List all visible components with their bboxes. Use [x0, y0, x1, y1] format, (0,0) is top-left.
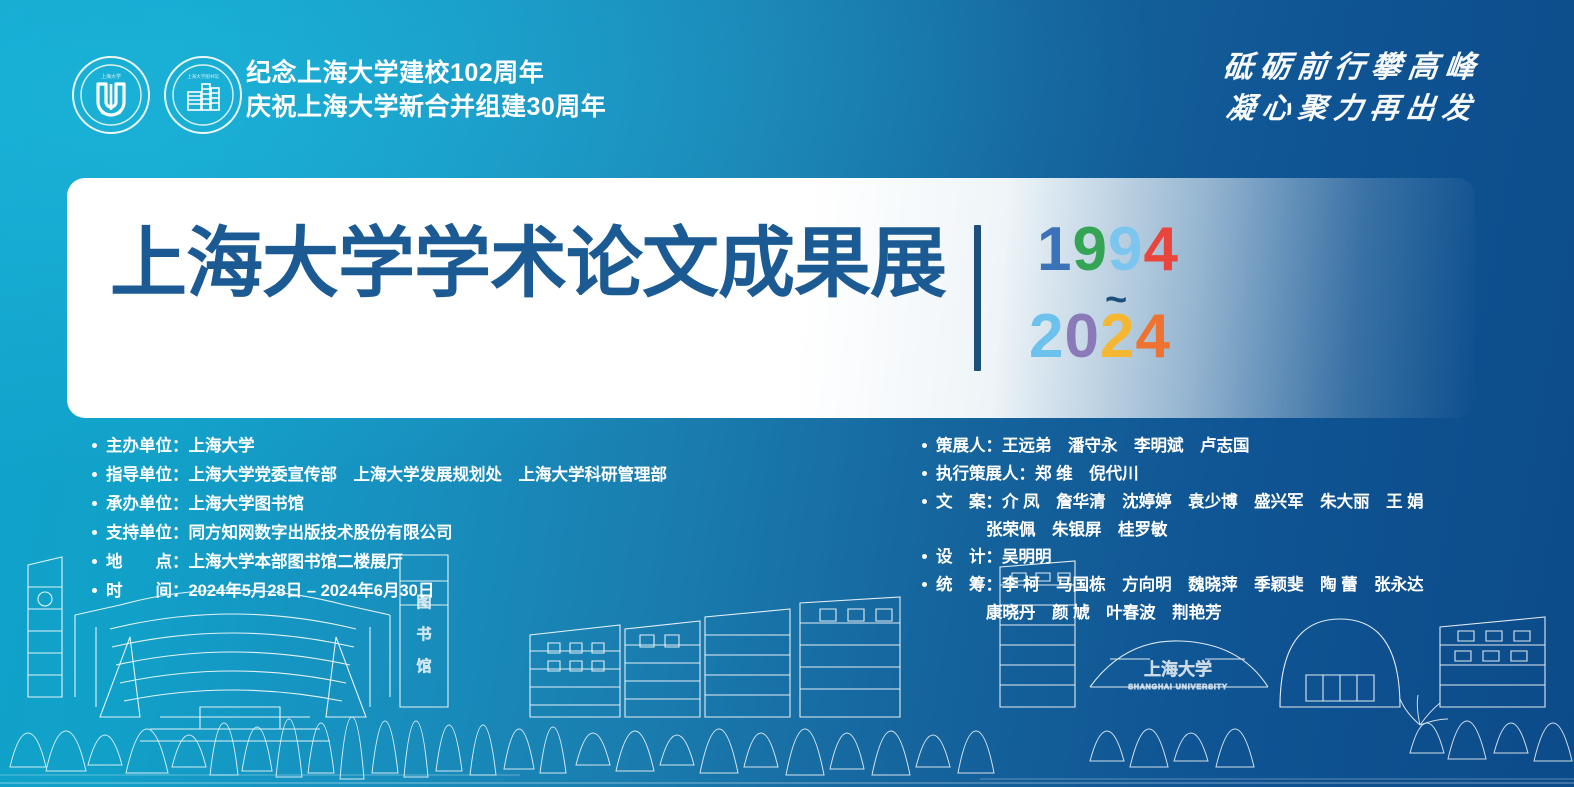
year-to-digit-1: 0: [1064, 308, 1099, 366]
svg-text:书: 书: [416, 625, 431, 643]
credit-value: 王远弟 潘守永 李明斌 卢志国: [1002, 435, 1250, 457]
credit-value: 郑 维 倪代川: [1035, 463, 1139, 485]
year-to-digit-0: 2: [1029, 308, 1064, 366]
svg-text:馆: 馆: [416, 657, 431, 675]
logo-group: 上海大学 上海大学图书馆: [72, 56, 242, 134]
info-label: 地 点：: [106, 551, 189, 573]
anniversary-title: 纪念上海大学建校102周年 庆祝上海大学新合并组建30周年: [246, 56, 606, 124]
list-item: 指导单位： 上海大学党委宣传部 上海大学发展规划处 上海大学科研管理部: [92, 464, 932, 486]
info-value: 2024年5月28日 – 2024年6月30日: [189, 580, 435, 602]
credit-value: 吴明明: [1002, 546, 1052, 568]
shanghai-university-emblem-icon: 上海大学: [72, 56, 150, 134]
bullet-icon: [922, 435, 936, 457]
list-item: 承办单位： 上海大学图书馆: [92, 493, 932, 515]
year-from-digit-3: 4: [1143, 221, 1178, 279]
bullet-icon: [922, 491, 936, 513]
title-card-inner: 上海大学学术论文成果展 1994 ~ 2024: [67, 178, 1475, 418]
info-label: 承办单位：: [106, 493, 189, 515]
bullet-icon: [92, 435, 106, 457]
page-title: 上海大学学术论文成果展: [110, 226, 946, 303]
credit-value-continued: 张荣佩 朱银屏 桂罗敏: [986, 519, 1422, 541]
year-to: 2024: [1029, 308, 1171, 366]
calligraphy-line2: 凝心聚力再出发: [1221, 88, 1485, 128]
calligraphy-line1: 砥砺前行攀高峰: [1221, 48, 1485, 88]
info-label: 支持单位：: [106, 522, 189, 544]
year-from-digit-0: 1: [1037, 221, 1072, 279]
list-item: 支持单位： 同方知网数字出版技术股份有限公司: [92, 522, 932, 544]
bullet-icon: [92, 522, 106, 544]
year-from-digit-2: 9: [1108, 221, 1143, 279]
info-value: 上海大学党委宣传部 上海大学发展规划处 上海大学科研管理部: [189, 464, 668, 486]
list-item: 策展人： 王远弟 潘守永 李明斌 卢志国: [922, 435, 1422, 457]
info-value: 同方知网数字出版技术股份有限公司: [189, 522, 453, 544]
list-item: 设 计： 吴明明: [922, 546, 1422, 568]
credits-info-list: 策展人： 王远弟 潘守永 李明斌 卢志国 执行策展人： 郑 维 倪代川 文 案：…: [922, 435, 1422, 624]
svg-text:上海大学: 上海大学: [101, 73, 121, 80]
credit-label: 设 计：: [936, 546, 1002, 568]
credit-label: 统 筹：: [936, 574, 1002, 596]
info-value: 上海大学本部图书馆二楼展厅: [189, 551, 404, 573]
year-range-block: 1994 ~ 2024: [974, 225, 1199, 371]
credit-value: 李 柯 马国栋 方向明 魏晓萍 季颖斐 陶 蕾 张永达: [1002, 574, 1424, 596]
bullet-icon: [922, 574, 936, 596]
list-item: 时 间： 2024年5月28日 – 2024年6月30日: [92, 580, 932, 602]
bullet-icon: [92, 580, 106, 602]
calligraphy-slogan: 砥砺前行攀高峰 凝心聚力再出发: [1223, 48, 1482, 128]
list-item: 文 案： 介 凤 詹华清 沈婷婷 袁少博 盛兴军 朱大丽 王 娟: [922, 491, 1422, 513]
svg-text:上海大学图书馆: 上海大学图书馆: [187, 73, 219, 80]
bullet-icon: [92, 551, 106, 573]
year-from-digit-1: 9: [1072, 221, 1107, 279]
credit-label: 执行策展人：: [936, 463, 1035, 485]
credit-value-continued: 康晓丹 颜 虓 叶春波 荆艳芳: [986, 602, 1422, 624]
year-to-digit-2: 2: [1100, 308, 1135, 366]
info-label: 时 间：: [106, 580, 189, 602]
info-label: 主办单位：: [106, 435, 189, 457]
list-item: 地 点： 上海大学本部图书馆二楼展厅: [92, 551, 932, 573]
credit-label: 文 案：: [936, 491, 1002, 513]
anniversary-title-line1: 纪念上海大学建校102周年: [246, 56, 606, 90]
title-card: 上海大学学术论文成果展 1994 ~ 2024: [67, 178, 1475, 418]
year-from: 1994: [1037, 221, 1179, 279]
svg-text:SHANGHAI UNIVERSITY: SHANGHAI UNIVERSITY: [1128, 684, 1228, 691]
list-item: 执行策展人： 郑 维 倪代川: [922, 463, 1422, 485]
info-value: 上海大学图书馆: [189, 493, 305, 515]
year-range: 1994 ~ 2024: [1009, 225, 1199, 371]
credit-value: 介 凤 詹华清 沈婷婷 袁少博 盛兴军 朱大丽 王 娟: [1002, 491, 1424, 513]
info-value: 上海大学: [189, 435, 255, 457]
year-divider-bar: [974, 225, 981, 371]
year-to-digit-3: 4: [1135, 308, 1170, 366]
info-label: 指导单位：: [106, 464, 189, 486]
bullet-icon: [92, 493, 106, 515]
svg-text:上海大学: 上海大学: [1144, 660, 1212, 680]
list-item: 主办单位： 上海大学: [92, 435, 932, 457]
organizer-info-list: 主办单位： 上海大学 指导单位： 上海大学党委宣传部 上海大学发展规划处 上海大…: [92, 435, 932, 609]
anniversary-title-line2: 庆祝上海大学新合并组建30周年: [246, 90, 606, 124]
bullet-icon: [92, 464, 106, 486]
list-item: 统 筹： 李 柯 马国栋 方向明 魏晓萍 季颖斐 陶 蕾 张永达: [922, 574, 1422, 596]
poster-canvas: 上海大学 上海大学图书馆 纪: [0, 0, 1574, 787]
credit-label: 策展人：: [936, 435, 1002, 457]
shanghai-university-library-emblem-icon: 上海大学图书馆: [164, 56, 242, 134]
bullet-icon: [922, 463, 936, 485]
poster-header: 上海大学 上海大学图书馆 纪: [0, 0, 1574, 178]
bullet-icon: [922, 546, 936, 568]
